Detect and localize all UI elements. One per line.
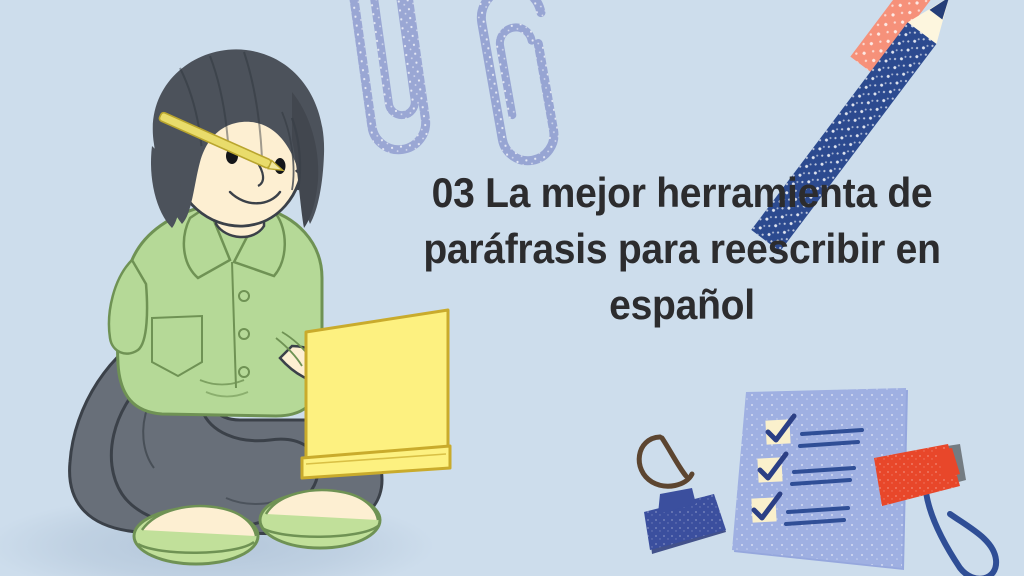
page-title: 03 La mejor herramienta de paráfrasis pa… bbox=[375, 165, 989, 333]
paperclip-right-icon bbox=[458, 0, 598, 184]
slide-canvas: 03 La mejor herramienta de paráfrasis pa… bbox=[0, 0, 1024, 576]
head bbox=[151, 49, 324, 237]
laptop bbox=[302, 310, 450, 478]
shirt bbox=[109, 206, 322, 416]
binder-clip-navy-icon bbox=[639, 437, 726, 554]
checklist-and-clips-group bbox=[630, 382, 1024, 576]
